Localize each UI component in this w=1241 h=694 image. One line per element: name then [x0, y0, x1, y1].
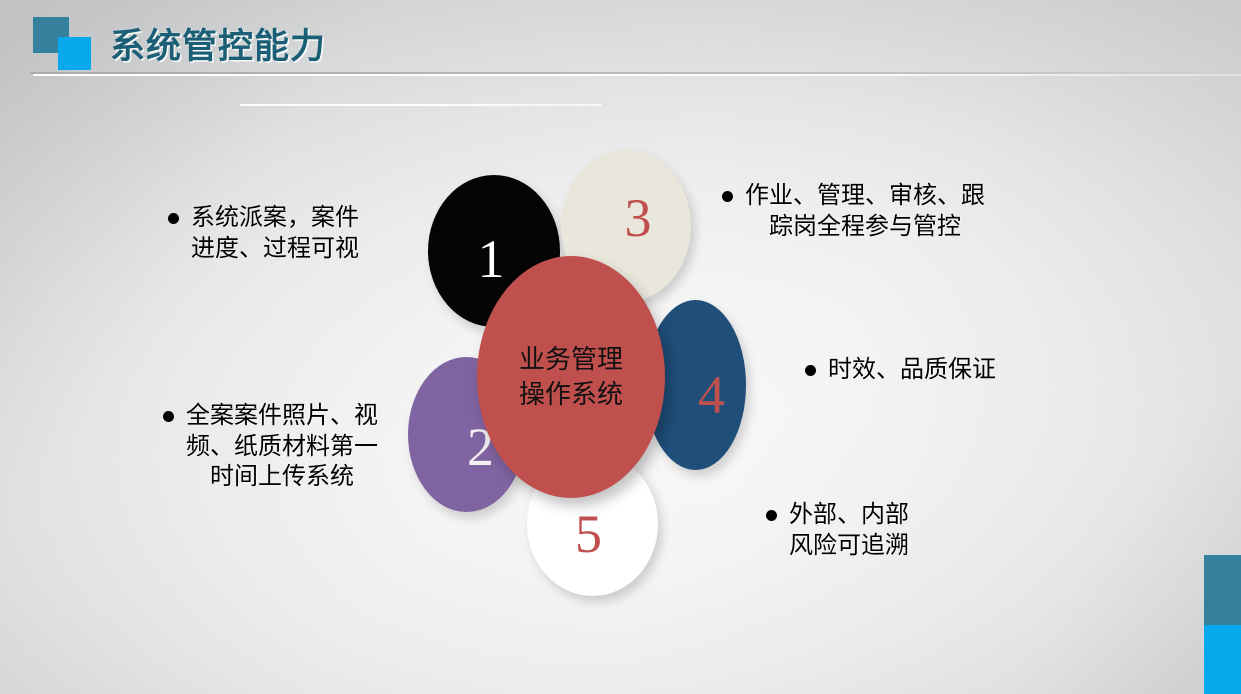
callout-right-bottom-text: 外部、内部 风险可追溯	[789, 500, 909, 561]
diagram-center-node[interactable]: 业务管理 操作系统	[477, 256, 665, 498]
callout-left-top: 系统派案，案件 进度、过程可视	[168, 203, 418, 264]
decorative-square-bright-icon	[58, 37, 91, 70]
callout-left-bottom-text: 全案案件照片、视 频、纸质材料第一 时间上传系统	[186, 401, 378, 493]
petal-number-3: 3	[625, 191, 652, 245]
callout-right-top-text: 作业、管理、审核、跟 踪岗全程参与管控	[745, 181, 985, 242]
bullet-dot-icon	[163, 411, 174, 422]
callout-left-top-text: 系统派案，案件 进度、过程可视	[191, 203, 359, 264]
callout-right-bottom: 外部、内部 风险可追溯	[766, 500, 996, 561]
header-accent-line	[240, 104, 602, 106]
petal-number-1: 1	[478, 232, 505, 286]
edge-decoration-teal	[1204, 555, 1241, 625]
bullet-dot-icon	[805, 365, 816, 376]
callout-left-bottom: 全案案件照片、视 频、纸质材料第一 时间上传系统	[163, 401, 421, 493]
bullet-dot-icon	[722, 191, 733, 202]
bullet-dot-icon	[168, 213, 179, 224]
slide-header: 系统管控能力	[0, 0, 1241, 120]
callout-right-middle: 时效、品质保证	[805, 355, 1045, 386]
center-label-line1: 业务管理	[519, 342, 623, 377]
header-divider-white	[33, 74, 1241, 76]
petal-number-4: 4	[698, 368, 725, 422]
callout-right-middle-text: 时效、品质保证	[828, 355, 996, 386]
slide-canvas: 系统管控能力 1 3 4 2 5 业务管理 操作系统 系统派案，案件 进度、过程…	[0, 0, 1241, 694]
callout-right-top: 作业、管理、审核、跟 踪岗全程参与管控	[722, 181, 1042, 242]
edge-decoration-blue	[1204, 625, 1241, 694]
petal-number-5: 5	[575, 507, 602, 561]
center-label-line2: 操作系统	[519, 377, 623, 412]
page-title: 系统管控能力	[110, 18, 326, 69]
bullet-dot-icon	[766, 510, 777, 521]
